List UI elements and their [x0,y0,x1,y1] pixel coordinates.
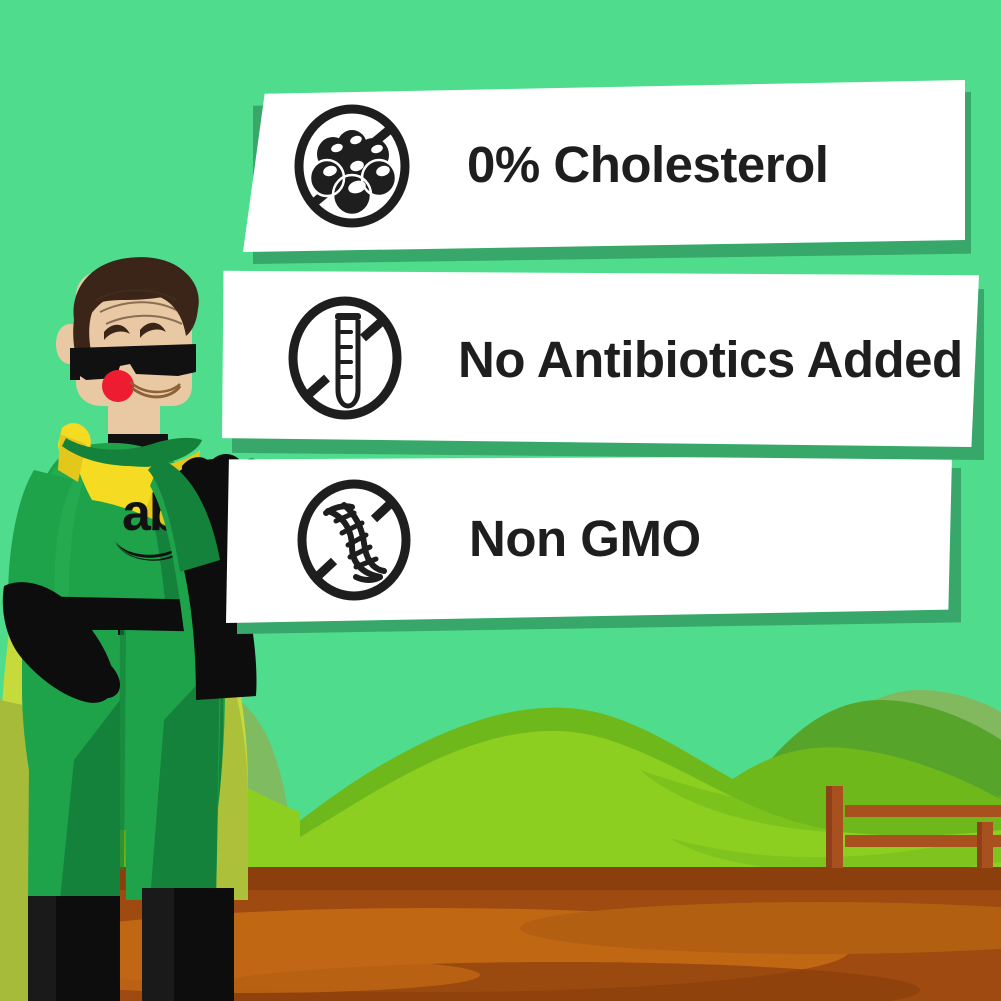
banner-cholesterol-label: 0% Cholesterol [467,135,828,194]
sunglasses-temple [70,348,80,380]
no-test-tube-icon [285,294,405,422]
banner-gmo-label: Non GMO [469,509,701,568]
poster-scene: ab [0,0,1001,1001]
leg-seam [119,630,126,870]
banner-gmo[interactable]: Non GMO [226,456,952,623]
cheek-blush [102,370,134,402]
banner-antibiotics-label: No Antibiotics Added [458,330,963,389]
banner-cholesterol[interactable]: 0% Cholesterol [243,80,965,252]
no-dna-icon [294,477,414,603]
boot-left-shade [28,896,56,1001]
boot-right-shade [142,888,174,1001]
banner-antibiotics[interactable]: No Antibiotics Added [222,269,979,447]
no-eggs-icon [291,102,413,230]
